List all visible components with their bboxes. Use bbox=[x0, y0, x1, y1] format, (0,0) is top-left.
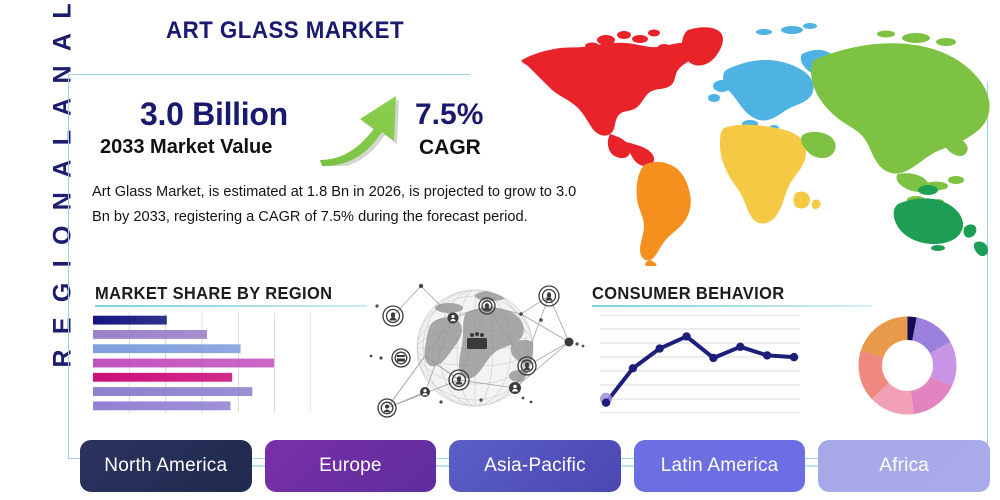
world-map-icon bbox=[498, 14, 998, 266]
region-button-north-america[interactable]: North America bbox=[80, 440, 252, 492]
cagr-number: 7.5% bbox=[415, 98, 483, 132]
region-button-africa[interactable]: Africa bbox=[818, 440, 990, 492]
region-button-latin-america[interactable]: Latin America bbox=[634, 440, 806, 492]
market-share-heading: MARKET SHARE BY REGION bbox=[95, 283, 332, 304]
market-value-label: 2033 Market Value bbox=[100, 136, 272, 159]
market-share-bar-chart bbox=[93, 313, 311, 413]
market-value-number: 3.0 Billion bbox=[140, 96, 288, 133]
region-button-europe[interactable]: Europe bbox=[265, 440, 437, 492]
cagr-label: CAGR bbox=[419, 136, 481, 160]
region-button-label: Europe bbox=[319, 455, 381, 477]
consumer-behavior-underline bbox=[592, 305, 872, 307]
region-button-label: North America bbox=[104, 455, 227, 477]
consumer-behavior-line-chart bbox=[600, 315, 800, 413]
region-button-label: Asia-Pacific bbox=[484, 455, 586, 477]
page-title: ART GLASS MARKET bbox=[166, 17, 404, 45]
region-button-label: Africa bbox=[879, 455, 929, 477]
region-button-label: Latin America bbox=[661, 455, 779, 477]
growth-arrow-icon bbox=[316, 86, 408, 166]
global-network-globe-icon bbox=[363, 272, 588, 424]
region-button-bar: North America Europe Asia-Pacific Latin … bbox=[80, 440, 990, 492]
market-share-underline bbox=[95, 305, 367, 307]
consumer-behavior-donut-chart bbox=[855, 313, 960, 418]
consumer-behavior-heading: CONSUMER BEHAVIOR bbox=[592, 283, 785, 304]
infographic-canvas: R E G I O N A L A N A L Y S I S ART GLAS… bbox=[0, 0, 1000, 500]
region-button-asia-pacific[interactable]: Asia-Pacific bbox=[449, 440, 621, 492]
